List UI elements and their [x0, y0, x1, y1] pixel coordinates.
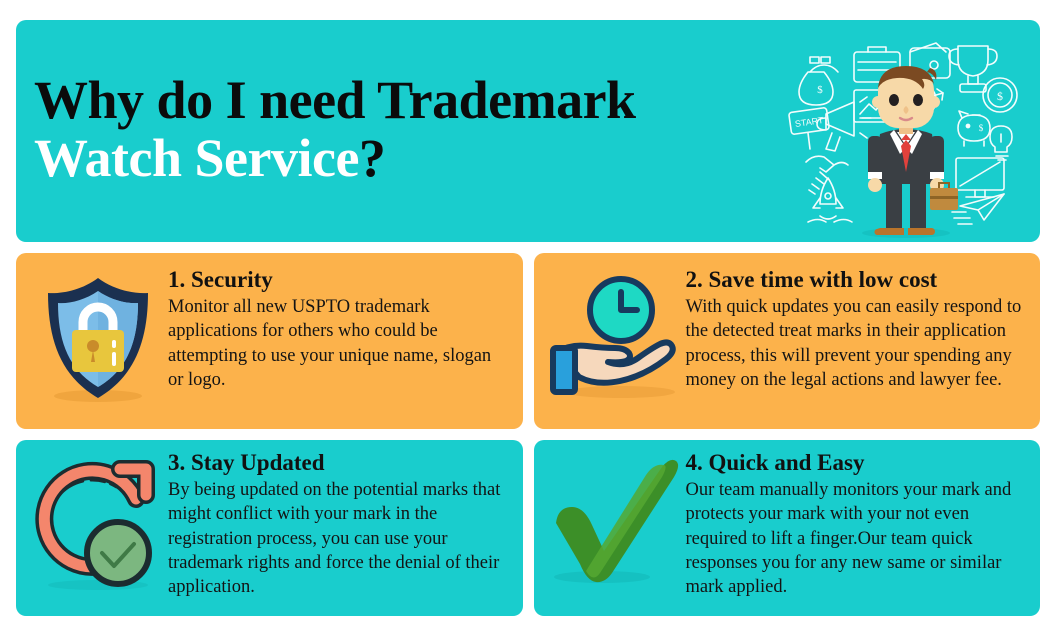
card-text: With quick updates you can easily respon…	[686, 295, 1027, 393]
title-line-2: Watch Service?	[34, 130, 794, 188]
handshake-icon	[806, 156, 848, 194]
card-heading: 2. Save time with low cost	[686, 267, 1027, 293]
svg-text:START: START	[794, 115, 824, 129]
benefit-card-save-time: 2. Save time with low cost With quick up…	[534, 253, 1041, 429]
svg-text:$: $	[997, 89, 1003, 103]
card-body: 4. Quick and Easy Our team manually moni…	[686, 448, 1031, 600]
monitor-icon	[956, 158, 1004, 197]
paper-plane-icon	[952, 194, 1004, 224]
businessman-figure	[862, 66, 958, 238]
card-heading: 4. Quick and Easy	[686, 450, 1027, 476]
title-line-1: Why do I need Trademark	[34, 72, 794, 130]
trophy-icon	[949, 46, 997, 92]
header-banner: Why do I need Trademark Watch Service? $	[16, 20, 1040, 242]
infographic-page: Why do I need Trademark Watch Service? $	[0, 0, 1056, 634]
megaphone-icon	[817, 97, 871, 151]
card-body: 3. Stay Updated By being updated on the …	[168, 448, 513, 600]
hand-holding-clock-icon	[546, 261, 686, 411]
title-question-mark: ?	[359, 128, 386, 188]
page-title: Why do I need Trademark Watch Service?	[34, 72, 794, 188]
svg-text:$: $	[979, 123, 984, 133]
card-heading: 3. Stay Updated	[168, 450, 509, 476]
lightbulb-icon	[990, 126, 1012, 160]
refresh-arrow-check-icon	[28, 448, 168, 598]
card-heading: 1. Security	[168, 267, 509, 293]
benefit-card-quick-easy: 4. Quick and Easy Our team manually moni…	[534, 440, 1041, 616]
card-body: 1. Security Monitor all new USPTO tradem…	[168, 261, 513, 392]
piggy-bank-icon: $	[958, 111, 990, 146]
start-sign-icon: START	[789, 107, 830, 149]
businessman-illustration: $	[782, 30, 1032, 242]
benefits-grid: 1. Security Monitor all new USPTO tradem…	[16, 253, 1040, 616]
rocket-icon	[808, 178, 852, 222]
coin-dollar-icon: $	[983, 78, 1017, 112]
green-checkmark-icon	[546, 448, 686, 598]
benefit-card-security: 1. Security Monitor all new USPTO tradem…	[16, 253, 523, 429]
card-text: By being updated on the potential marks …	[168, 478, 509, 600]
svg-text:$: $	[817, 84, 823, 96]
card-text: Monitor all new USPTO trademark applicat…	[168, 295, 509, 393]
money-bag-icon: $	[799, 57, 838, 105]
title-line-2-text: Watch Service	[34, 128, 359, 188]
card-body: 2. Save time with low cost With quick up…	[686, 261, 1031, 392]
shield-lock-icon	[28, 261, 168, 411]
card-text: Our team manually monitors your mark and…	[686, 478, 1027, 600]
benefit-card-stay-updated: 3. Stay Updated By being updated on the …	[16, 440, 523, 616]
